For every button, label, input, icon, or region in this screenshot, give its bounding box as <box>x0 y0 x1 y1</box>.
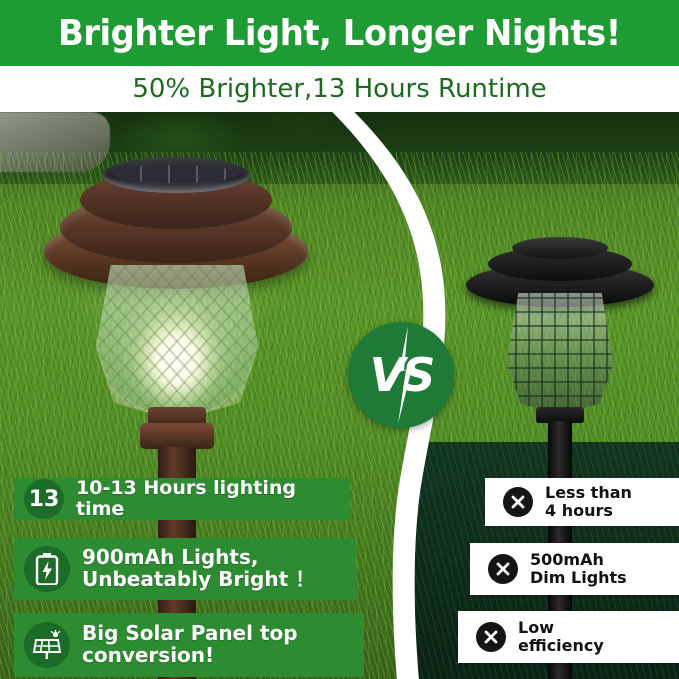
solar-panel-glyph <box>32 630 62 660</box>
glass-globe-lit <box>94 265 260 415</box>
vs-badge: VS <box>348 322 454 428</box>
feature-label: 900mAh Lights, Unbeatably Bright ！ <box>82 547 315 590</box>
black-solar-lamp <box>460 237 660 497</box>
drawback-bar-runtime: Less than 4 hours <box>485 478 679 526</box>
header-banner: Brighter Light, Longer Nights! <box>0 0 679 66</box>
battery-glyph <box>34 553 60 585</box>
solar-panel-top <box>102 157 250 193</box>
drawback-label: 500mAh Dim Lights <box>530 551 627 586</box>
x-glyph <box>483 629 499 645</box>
feature-label: 10-13 Hours lighting time <box>76 478 350 519</box>
x-glyph <box>495 561 511 577</box>
hours-13-value: 13 <box>29 487 60 512</box>
x-glyph <box>510 494 526 510</box>
drawback-label: Less than 4 hours <box>545 484 632 519</box>
subtitle: 50% Brighter,13 Hours Runtime <box>132 74 546 104</box>
drawback-label: Low efficiency <box>518 619 604 654</box>
feature-label: Big Solar Panel top conversion! <box>82 623 298 666</box>
drawback-bar-battery: 500mAh Dim Lights <box>470 543 679 595</box>
feature-bar-lighting-time: 13 10-13 Hours lighting time <box>14 478 350 520</box>
solar-panel-icon <box>24 622 70 668</box>
drawback-bar-efficiency: Low efficiency <box>458 611 679 663</box>
lightning-bolt-icon <box>395 326 415 424</box>
feature-bar-battery: 900mAh Lights, Unbeatably Bright ！ <box>14 538 356 600</box>
battery-charging-icon <box>24 546 70 592</box>
page-title: Brighter Light, Longer Nights! <box>58 13 621 54</box>
lamp-base <box>140 423 214 449</box>
feature-bar-solar-panel: Big Solar Panel top conversion! <box>14 613 364 677</box>
glass-globe-unlit <box>502 293 618 411</box>
subtitle-band: 50% Brighter,13 Hours Runtime <box>0 66 679 112</box>
x-circle-icon <box>488 554 518 584</box>
lamp-cap-upper <box>512 237 608 259</box>
hours-13-badge-icon: 13 <box>24 479 64 519</box>
bronze-solar-lamp <box>40 157 310 487</box>
x-circle-icon <box>476 622 506 652</box>
product-comparison-infographic: Brighter Light, Longer Nights! 50% Brigh… <box>0 0 679 679</box>
x-circle-icon <box>503 487 533 517</box>
